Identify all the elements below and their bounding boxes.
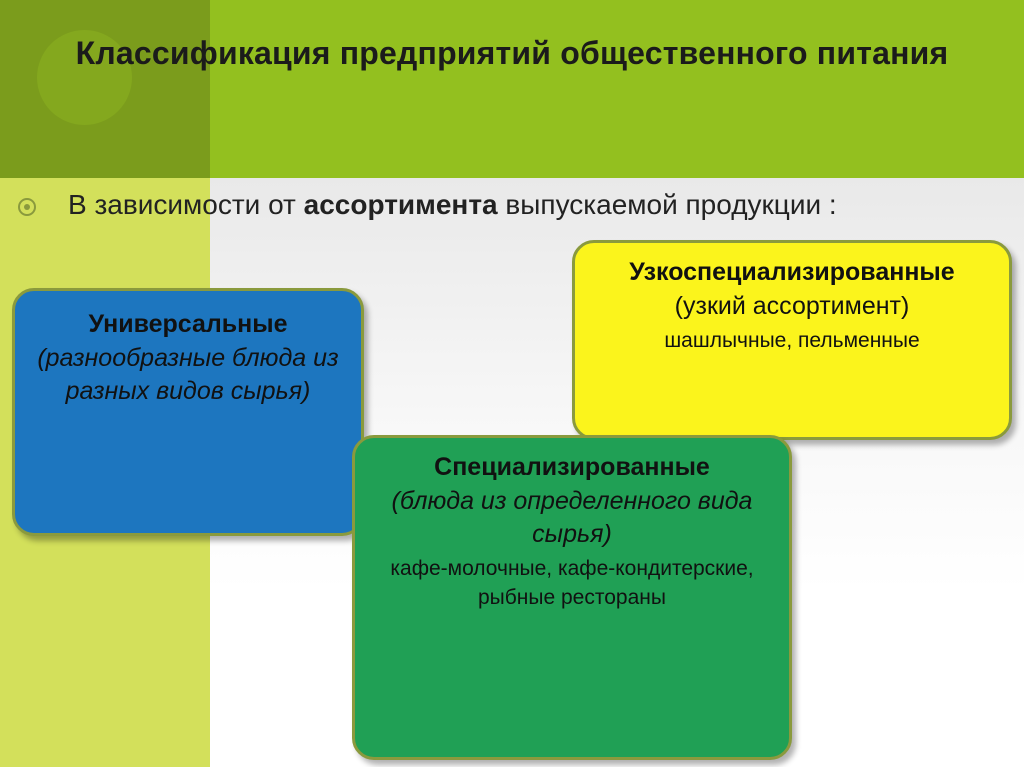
card-specialized: Специализированные (блюда из определенно… — [352, 435, 792, 760]
bullet-text-bold: ассортимента — [304, 189, 498, 220]
bullet-text-before: В зависимости от — [68, 189, 304, 220]
title-band — [210, 0, 1024, 178]
page-title: Классификация предприятий общественного … — [30, 32, 994, 75]
card-specialized-subtitle: (блюда из определенного вида сырья) — [367, 485, 777, 551]
bullet-text: В зависимости от ассортимента выпускаемо… — [68, 184, 968, 226]
bullet-text-after: выпускаемой продукции : — [498, 189, 837, 220]
card-universal-heading: Универсальные — [29, 309, 347, 340]
card-universal-subtitle: (разнообразные блюда из разных видов сыр… — [29, 342, 347, 408]
card-specialized-note: кафе-молочные, кафе-кондитерские, рыбные… — [367, 555, 777, 612]
card-specialized-heading: Специализированные — [367, 452, 777, 483]
card-narrow-specialized-subtitle: (узкий ассортимент) — [587, 290, 997, 323]
slide-canvas: Классификация предприятий общественного … — [0, 0, 1024, 767]
card-narrow-specialized-note: шашлычные, пельменные — [587, 327, 997, 355]
card-narrow-specialized: Узкоспециализированные (узкий ассортимен… — [572, 240, 1012, 440]
card-narrow-specialized-heading: Узкоспециализированные — [587, 257, 997, 288]
card-universal: Универсальные (разнообразные блюда из ра… — [12, 288, 364, 536]
target-bullet-icon — [18, 198, 36, 216]
